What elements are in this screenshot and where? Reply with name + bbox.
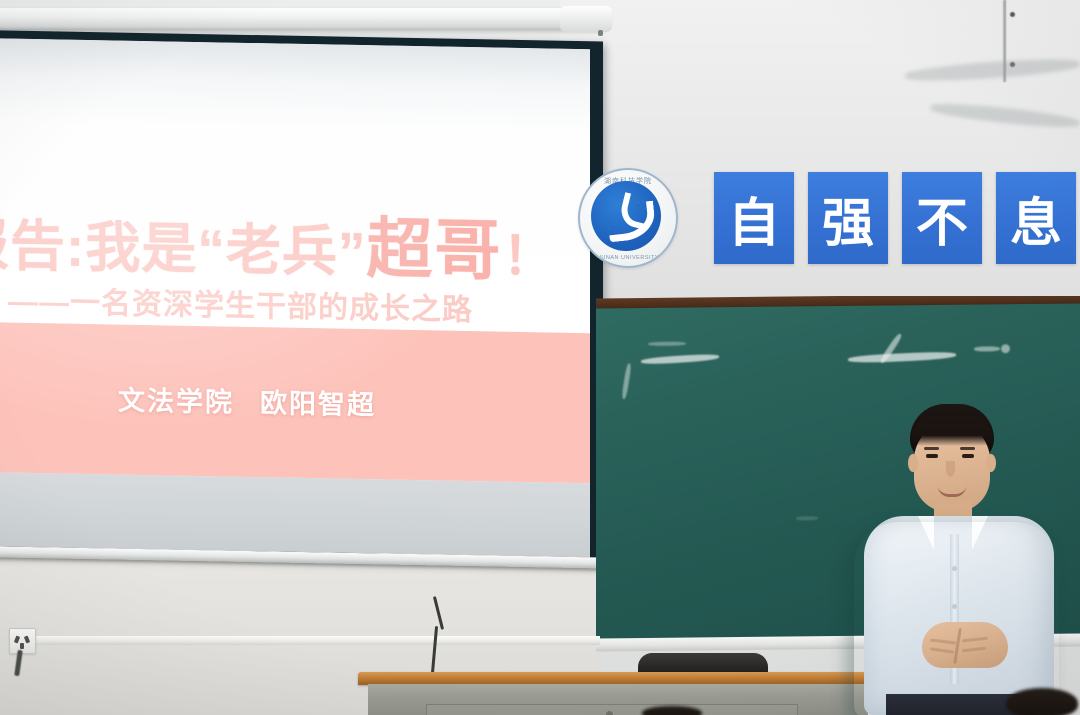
- outlet-slot-icon: [24, 636, 30, 644]
- slide-title: 报告:我是“老兵”超哥！: [0, 208, 574, 285]
- motto-tile-3: 不: [902, 172, 982, 264]
- presenter-shirt: [864, 516, 1054, 715]
- wall-rail: [34, 636, 600, 645]
- school-emblem: 湖南科技学院 HUNAN UNIVERSITY: [578, 168, 678, 268]
- chalk-mark: [974, 346, 1000, 351]
- power-outlet[interactable]: [9, 628, 36, 654]
- podium-body: [368, 684, 868, 715]
- chalkboard-left-segment: [0, 296, 600, 546]
- projector-screen-roller: [0, 8, 610, 30]
- presenter-collar: [918, 516, 934, 550]
- presenter-eyebrow: [960, 447, 975, 450]
- presenter-shirt-button: [952, 604, 957, 609]
- slide-title-main: 报告:我是“老兵”: [0, 214, 366, 284]
- audience-head: [642, 706, 702, 715]
- audience-head: [1006, 688, 1078, 715]
- ceiling-fan-screw: [1010, 12, 1015, 17]
- presenter-ear: [908, 454, 918, 472]
- chalk-mark: [641, 353, 719, 365]
- projector-screen-roller-cap: [560, 6, 612, 32]
- outlet-slot-icon: [20, 643, 24, 649]
- motto-tile-2: 强: [808, 172, 888, 264]
- emblem-disc: [591, 181, 661, 251]
- chalk-mark: [648, 342, 686, 346]
- chalk-mark: [796, 516, 818, 520]
- slide-title-exclamation: ！: [502, 228, 555, 287]
- presenter-eyebrow: [924, 447, 939, 450]
- presenter-nose: [946, 461, 955, 477]
- podium-knob: [606, 711, 613, 715]
- presenter-collar: [972, 516, 988, 550]
- chalk-mark: [1001, 344, 1010, 353]
- chalk-mark: [848, 351, 956, 364]
- slide-title-highlight: 超哥: [366, 211, 502, 287]
- presenter-eye: [926, 454, 938, 458]
- classroom-scene: 报告:我是“老兵”超哥！ ——一名资深学生干部的成长之路 文法学院欧阳智超 湖南…: [0, 0, 1080, 715]
- presenter-shirt-button: [952, 566, 957, 571]
- lectern-podium: [358, 672, 880, 715]
- chalk-mark: [621, 363, 632, 399]
- roller-mount-screw: [598, 30, 603, 36]
- outlet-slot-icon: [14, 636, 20, 644]
- emblem-bottom-text: HUNAN UNIVERSITY: [580, 255, 676, 261]
- motto-tile-4: 息: [996, 172, 1076, 264]
- wall-motto-banner: 自 强 不 息: [714, 172, 1076, 264]
- presenter-hair-front: [912, 416, 992, 446]
- presenter-eye: [962, 454, 974, 458]
- presenter-hands: [922, 622, 1008, 668]
- presenter-ear: [986, 454, 996, 472]
- presenter: [848, 404, 1080, 715]
- motto-tile-1: 自: [714, 172, 794, 264]
